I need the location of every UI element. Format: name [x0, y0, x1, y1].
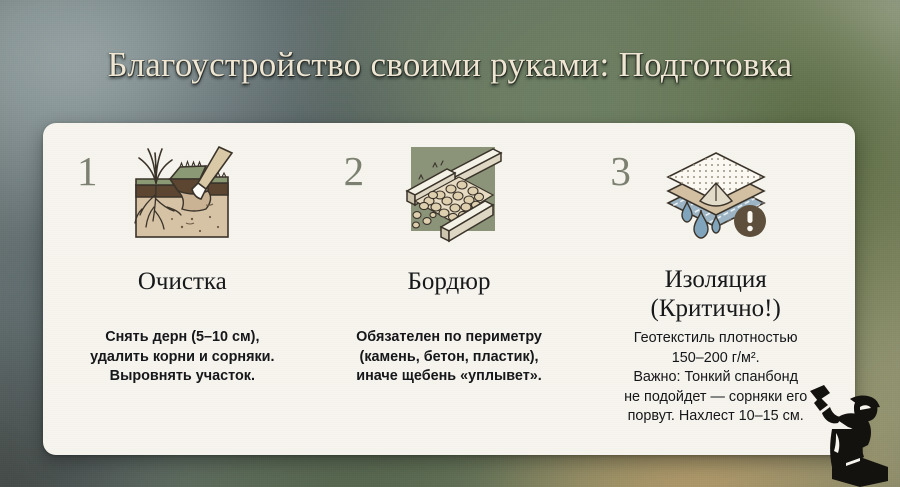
step-1-body: Снять дерн (5–10 см), удалить корни и со…: [76, 328, 288, 387]
step-1-header: 1: [49, 137, 316, 261]
geotextile-layers-icon: [656, 139, 776, 251]
curb-gravel-icon: [389, 139, 509, 251]
steps-columns: 1: [43, 123, 855, 455]
step-column-2: 2: [316, 137, 583, 445]
step-2-header: 2: [316, 137, 583, 261]
step-3-number: 3: [610, 151, 631, 192]
steps-card: 1: [43, 123, 855, 455]
turf-removal-icon: [122, 139, 242, 251]
step-column-1: 1: [49, 137, 316, 445]
step-2-number: 2: [344, 151, 365, 192]
step-2-body: Обязателен по периметру (камень, бетон, …: [342, 328, 556, 387]
step-3-body: Геотекстиль плотностью 150–200 г/м². Важ…: [618, 329, 813, 427]
step-3-title: Изоляция (Критично!): [651, 265, 781, 323]
step-3-header: 3: [582, 137, 849, 261]
step-1-title: Очистка: [138, 267, 227, 296]
step-2-title: Бордюр: [408, 267, 491, 296]
stonemason-icon: [802, 383, 894, 487]
step-1-number: 1: [77, 151, 98, 192]
page-title: Благоустройство своими руками: Подготовк…: [0, 44, 900, 85]
